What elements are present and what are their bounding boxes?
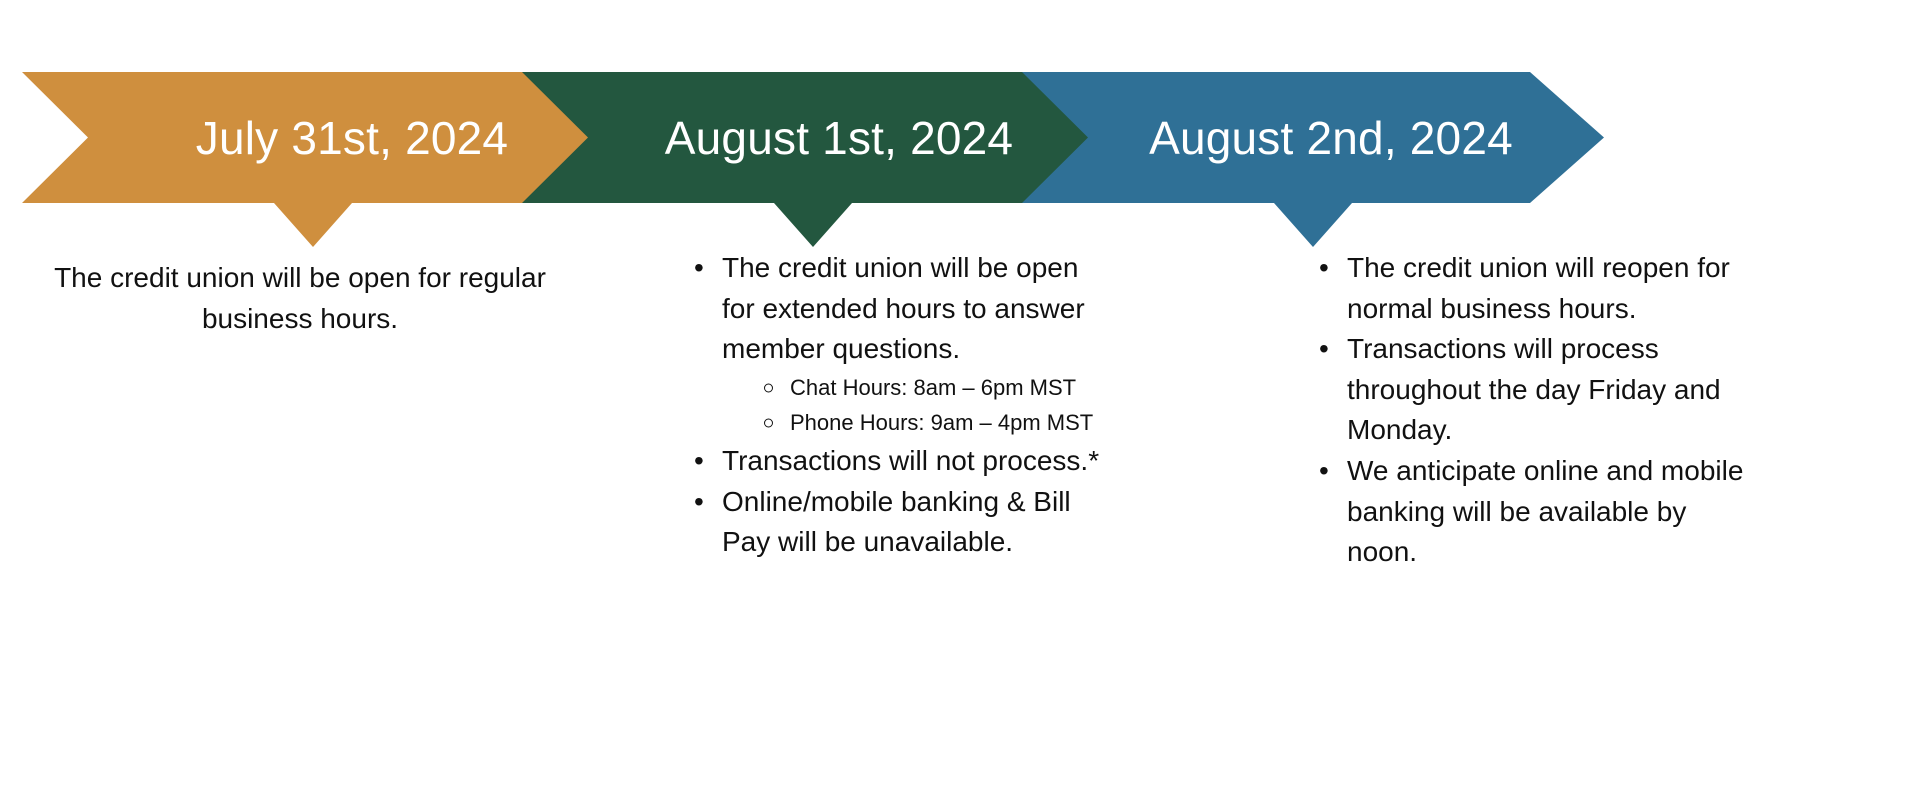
sub-list-item-text: Chat Hours: 8am – 6pm MST	[790, 375, 1076, 400]
timeline-stage-content-2: • The credit union will be open for exte…	[690, 248, 1110, 563]
bullet-dot-icon: •	[694, 248, 704, 289]
list-item: • The credit union will reopen for norma…	[1315, 248, 1745, 329]
bullet-dot-icon: •	[1319, 248, 1329, 289]
timeline-content-columns: The credit union will be open for regula…	[0, 248, 1920, 800]
list-item: • Transactions will not process.*	[690, 441, 1110, 482]
bullet-dot-icon: •	[1319, 451, 1329, 492]
hollow-bullet-dot-icon	[764, 419, 773, 428]
stage-2-bullet-list: • The credit union will be open for exte…	[690, 248, 1110, 563]
hollow-bullet-dot-icon	[764, 383, 773, 392]
sub-list-item: Phone Hours: 9am – 4pm MST	[764, 405, 1110, 441]
timeline-diagram: July 31st, 2024 August 1st, 2024 August …	[0, 0, 1920, 800]
sub-list-item-text: Phone Hours: 9am – 4pm MST	[790, 410, 1093, 435]
timeline-stage-content-3: • The credit union will reopen for norma…	[1315, 248, 1745, 573]
timeline-stage-banner-3: August 2nd, 2024	[1022, 72, 1604, 247]
sub-list-item: Chat Hours: 8am – 6pm MST	[764, 370, 1110, 406]
list-item: • Transactions will process throughout t…	[1315, 329, 1745, 451]
timeline-stage-banner-2: August 1st, 2024	[522, 72, 1104, 247]
timeline-banner-row: July 31st, 2024 August 1st, 2024 August …	[0, 72, 1920, 247]
stage-1-paragraph: The credit union will be open for regula…	[40, 248, 560, 339]
bullet-dot-icon: •	[694, 482, 704, 523]
list-item-text: Online/mobile banking & Bill Pay will be…	[722, 482, 1110, 563]
timeline-stage-banner-1: July 31st, 2024	[22, 72, 604, 247]
bullet-dot-icon: •	[694, 441, 704, 482]
timeline-stage-content-1: The credit union will be open for regula…	[40, 248, 560, 339]
list-item: • We anticipate online and mobile bankin…	[1315, 451, 1745, 573]
bullet-dot-icon: •	[1319, 329, 1329, 370]
list-item-text: The credit union will reopen for normal …	[1347, 248, 1745, 329]
stage-2-sub-bullet-list: Chat Hours: 8am – 6pm MST Phone Hours: 9…	[722, 370, 1110, 441]
list-item-text: We anticipate online and mobile banking …	[1347, 451, 1745, 573]
list-item-text: The credit union will be open for extend…	[722, 248, 1110, 370]
list-item-text: Transactions will not process.*	[722, 441, 1110, 482]
chevron-banner-shape-icon	[22, 72, 604, 247]
chevron-banner-shape-icon	[522, 72, 1104, 247]
list-item-text: Transactions will process throughout the…	[1347, 329, 1745, 451]
stage-3-bullet-list: • The credit union will reopen for norma…	[1315, 248, 1745, 573]
chevron-banner-shape-icon	[1022, 72, 1604, 247]
list-item: • Online/mobile banking & Bill Pay will …	[690, 482, 1110, 563]
list-item: • The credit union will be open for exte…	[690, 248, 1110, 441]
